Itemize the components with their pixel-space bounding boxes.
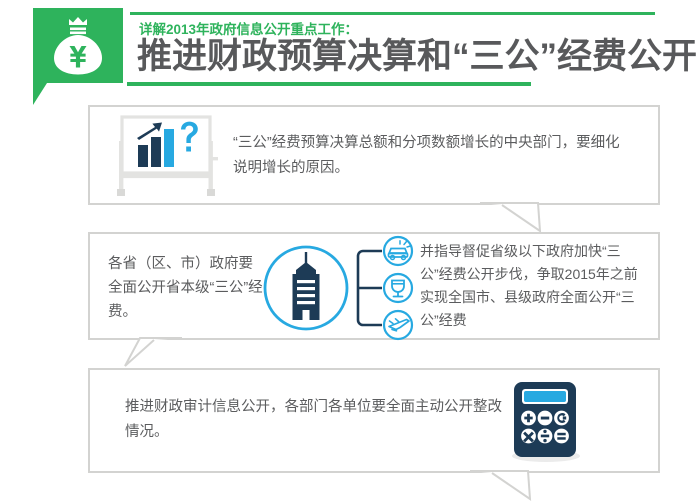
car-icon [384,237,412,265]
logo-badge-tail [33,83,47,105]
logo-badge [33,8,123,83]
panel-2-text-left: 各省（区、市）政府要全面公开省本级“三公”经费。 [108,252,263,324]
government-building-icon [258,240,354,336]
panel-2-tail [120,338,200,370]
header-rule-bottom [127,82,531,86]
panel-central-departments: “三公”经费预算决算总额和分项数额增长的中央部门，要细化说明增长的原因。 [88,105,660,205]
wine-glass-icon [384,274,412,302]
calculator-icon [494,372,594,472]
money-bag-icon [33,8,123,83]
panel-3-tail [470,471,560,503]
header-rule-top [130,12,655,15]
calculator-display [524,391,566,402]
panel-audit-disclosure: 推进财政审计信息公开，各部门各单位要全面主动公开整改情况。 [88,368,660,473]
panel-provincial-governments: 各省（区、市）政府要全面公开省本级“三公”经费。 [88,232,660,340]
airplane-icon [384,311,412,339]
panel-3-text: 推进财政审计信息公开，各部门各单位要全面主动公开整改情况。 [125,395,505,445]
page-title: 推进财政预算决算和“三公”经费公开 [137,36,697,78]
panel-1-text: “三公”经费预算决算总额和分项数额增长的中央部门，要细化说明增长的原因。 [233,131,633,181]
header: 详解2013年政府信息公开重点工作： 推进财政预算决算和“三公”经费公开 [0,0,700,100]
header-subtitle: 详解2013年政府信息公开重点工作： [139,18,358,38]
panel-1-tail [480,203,570,235]
panel-2-text-right: 并指导督促省级以下政府加快“三公”经费公开步伐，争取2015年之前实现全国市、县… [420,240,645,332]
easel-bar-chart-question-icon [112,113,222,203]
